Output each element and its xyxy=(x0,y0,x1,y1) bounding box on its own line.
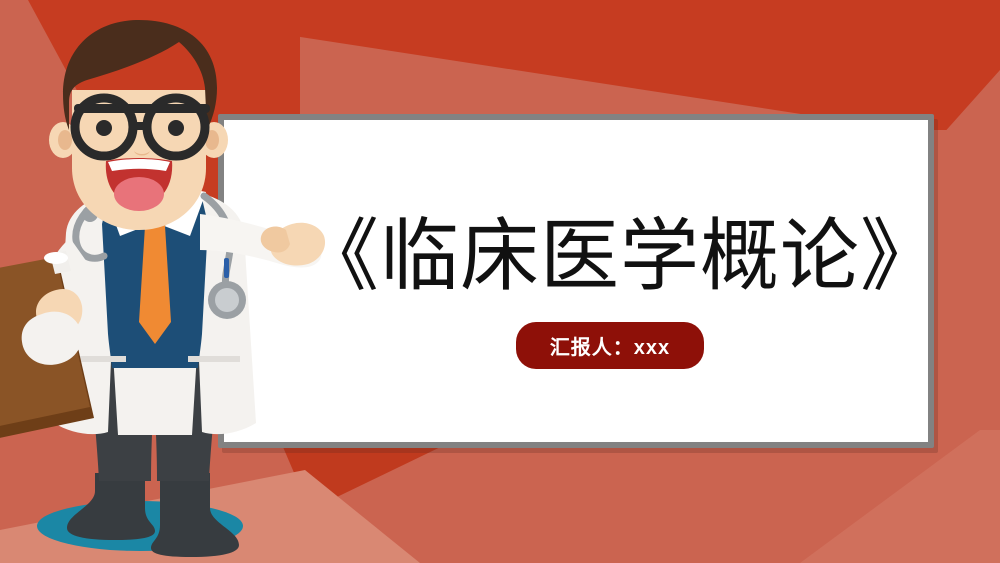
tongue-icon xyxy=(114,177,164,211)
eye-left-icon xyxy=(96,120,112,136)
presenter-badge-row: 汇报人：xxx xyxy=(300,322,920,369)
eye-right-icon xyxy=(168,120,184,136)
stethoscope-chestpiece-inner-icon xyxy=(215,288,239,312)
pocket-pen-icon xyxy=(224,258,229,278)
page-title: 《临床医学概论》 xyxy=(300,215,920,298)
presenter-badge: 汇报人：xxx xyxy=(516,322,704,369)
title-block: 《临床医学概论》 汇报人：xxx xyxy=(300,215,920,369)
coat-pocket-line-right-icon xyxy=(188,356,240,362)
ear-left-inner-icon xyxy=(58,130,72,150)
doctor-illustration xyxy=(0,18,330,563)
presentation-slide: 《临床医学概论》 汇报人：xxx xyxy=(0,0,1000,563)
coat-pocket-line-left-icon xyxy=(74,356,126,362)
